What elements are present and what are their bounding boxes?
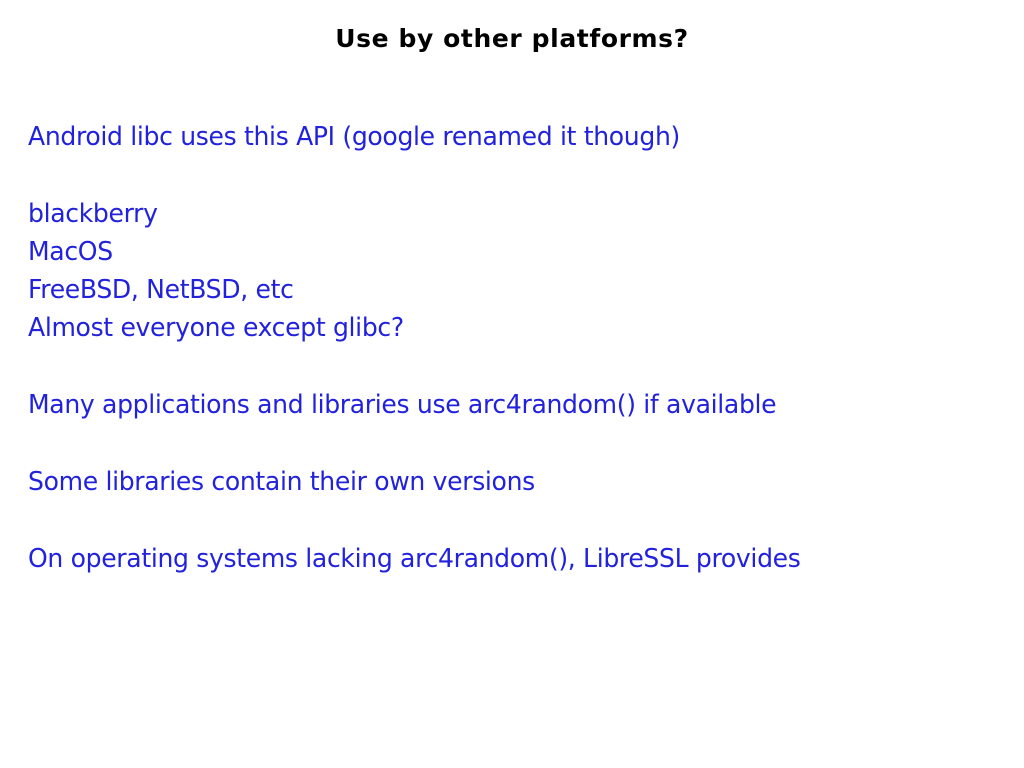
slide-canvas: Use by other platforms? Android libc use… [0,0,1024,768]
paragraph-own-versions: Some libraries contain their own version… [28,463,996,501]
body-line: MacOS [28,233,962,271]
paragraph-apps-libraries: Many applications and libraries use arc4… [28,386,996,424]
paragraph-android-note: Android libc uses this API (google renam… [28,118,996,156]
body-line: Almost everyone except glibc? [28,309,962,347]
body-line: On operating systems lacking arc4random(… [28,540,962,578]
body-line: Some libraries contain their own version… [28,463,962,501]
paragraph-platform-list: blackberry MacOS FreeBSD, NetBSD, etc Al… [28,195,996,347]
body-line: Android libc uses this API (google renam… [28,118,962,156]
slide-title: Use by other platforms? [0,24,1024,54]
body-line: FreeBSD, NetBSD, etc [28,271,962,309]
body-line: Many applications and libraries use arc4… [28,386,962,424]
slide-body: Android libc uses this API (google renam… [28,118,996,578]
paragraph-libressl-note: On operating systems lacking arc4random(… [28,540,996,578]
body-line: blackberry [28,195,962,233]
